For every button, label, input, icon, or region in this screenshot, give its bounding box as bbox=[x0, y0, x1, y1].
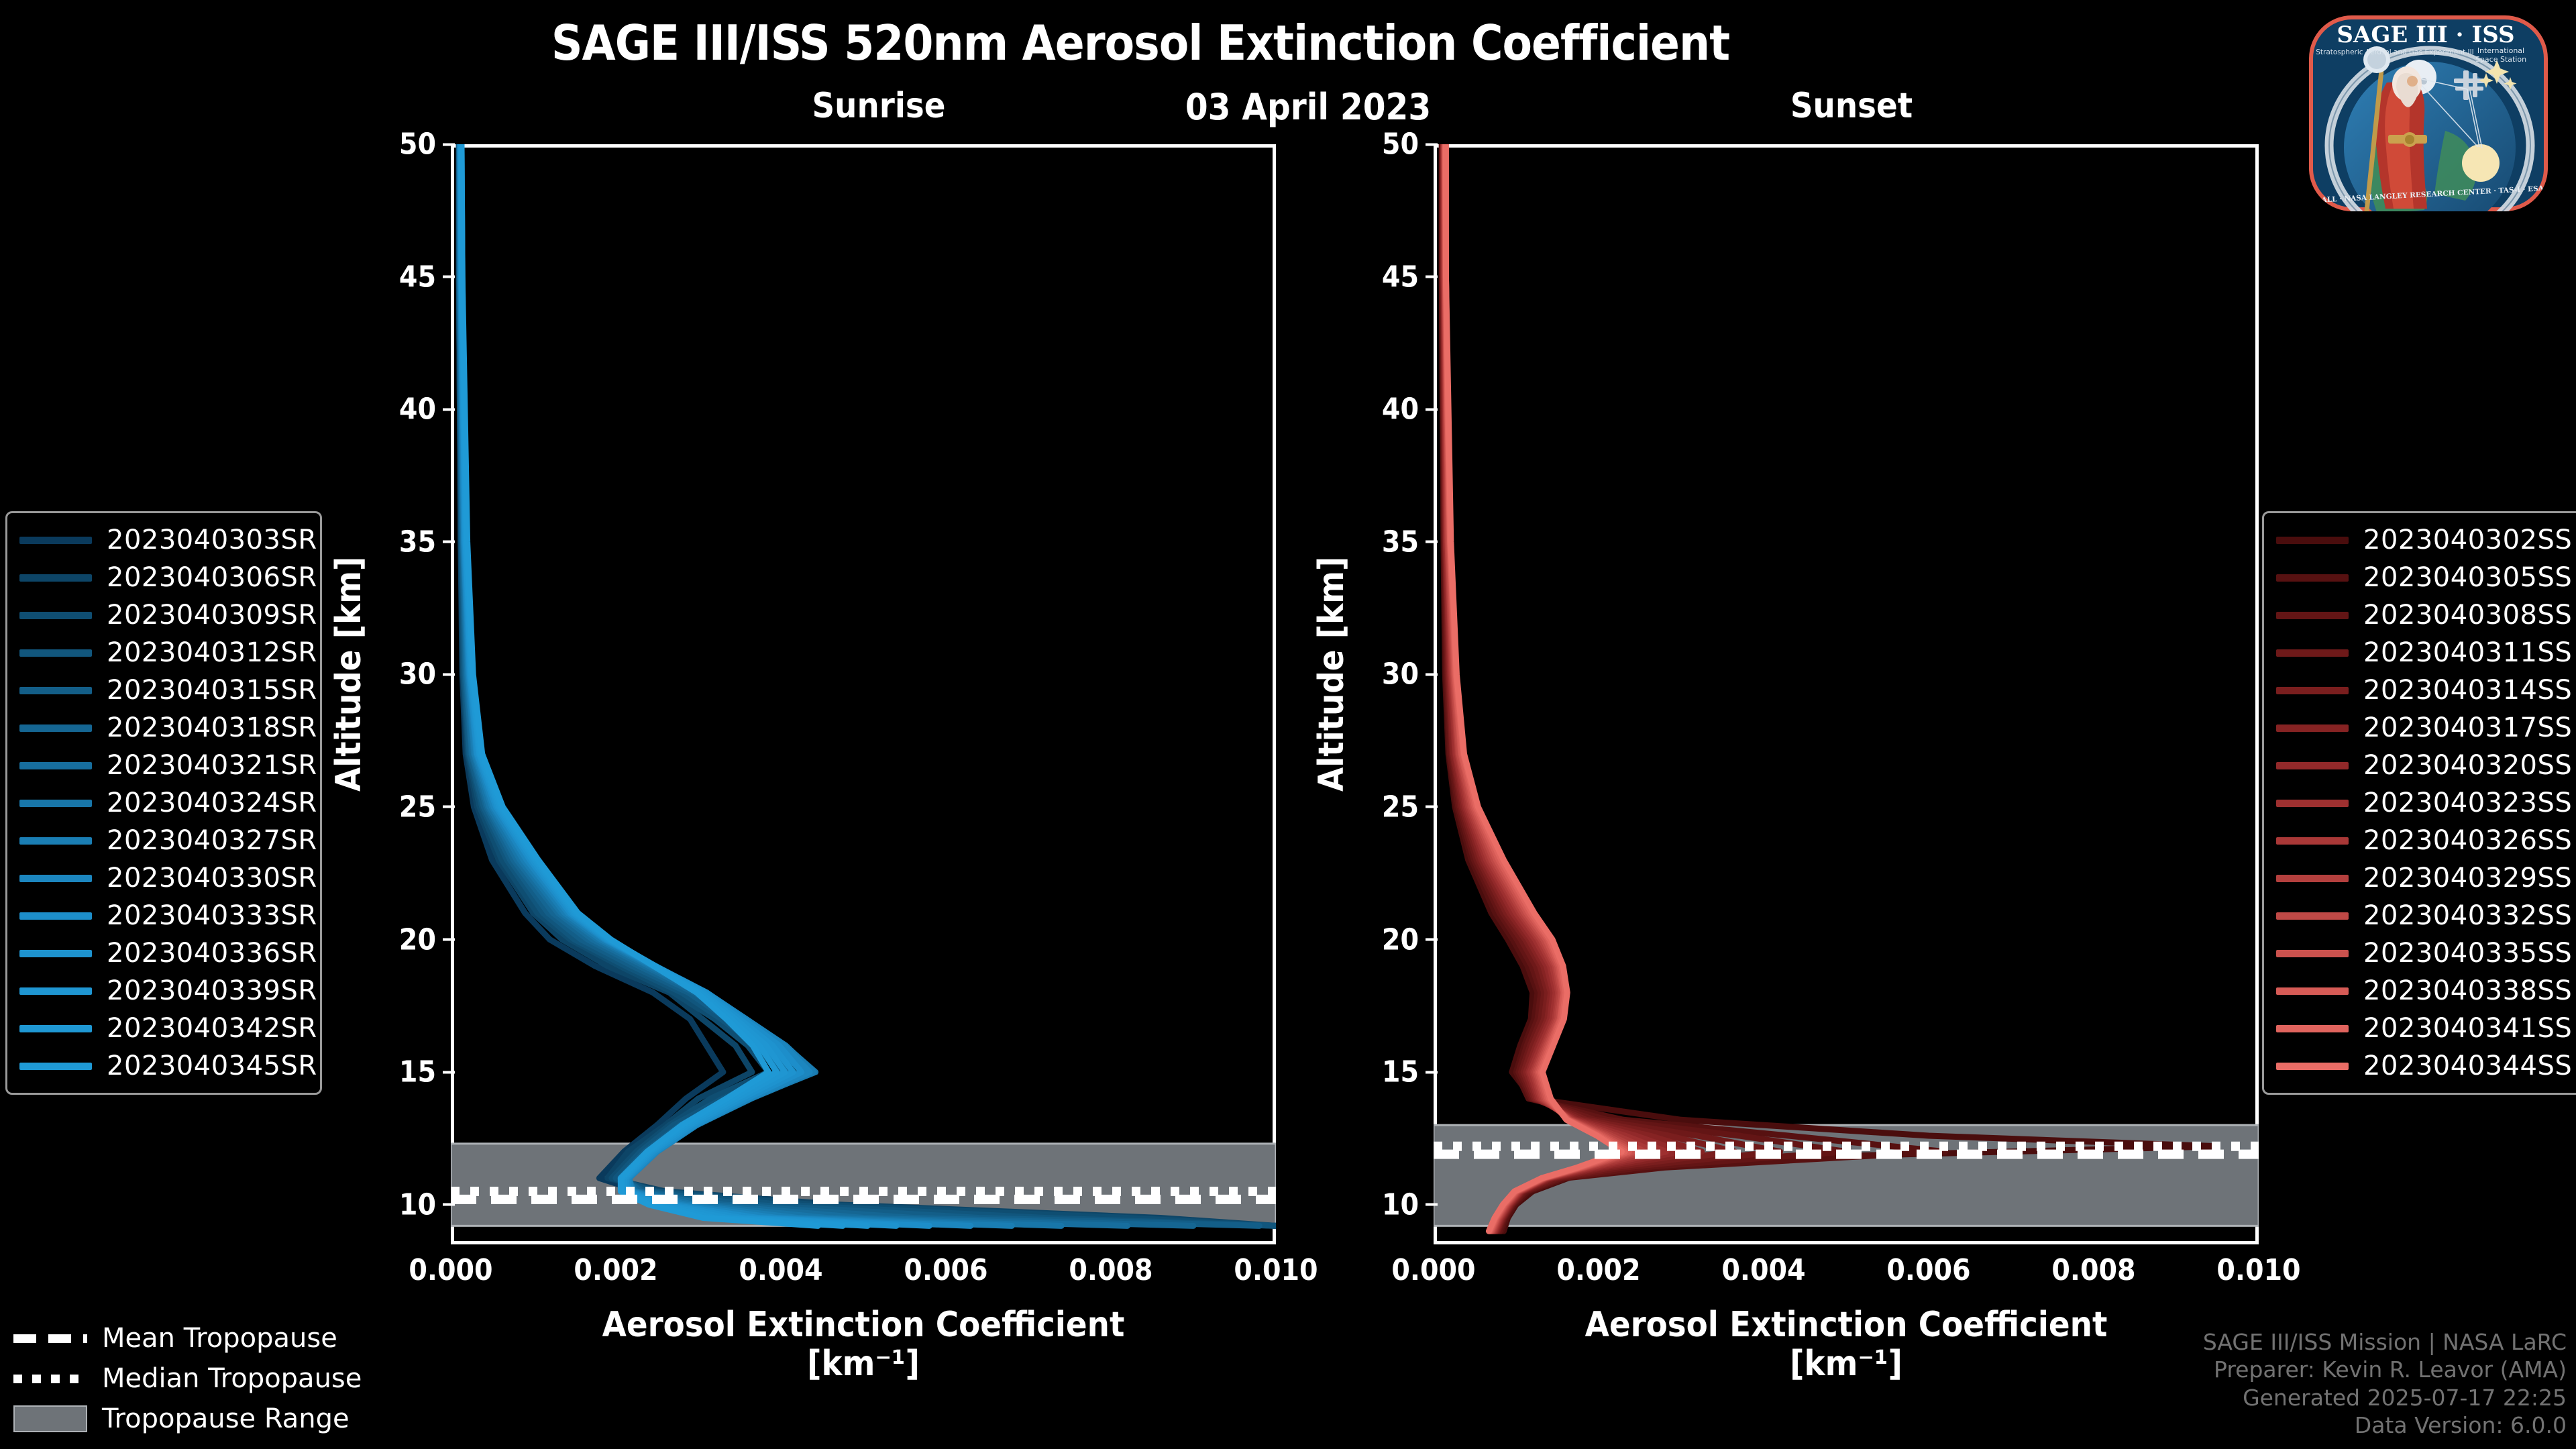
legend-item-2023040345SR[interactable]: 2023040345SR bbox=[19, 1047, 308, 1085]
y-tick-mark bbox=[443, 1203, 455, 1206]
profile-line-2023040302SS bbox=[1442, 144, 2217, 1231]
profile-line-2023040326SS bbox=[1444, 144, 1655, 1231]
legend-color-swatch bbox=[19, 1025, 92, 1032]
legend-item-2023040312SR[interactable]: 2023040312SR bbox=[19, 634, 308, 672]
legend-label-2023040342SR: 2023040342SR bbox=[107, 1013, 317, 1044]
sunset-panel-label: Sunset bbox=[1597, 86, 2106, 126]
legend-color-swatch bbox=[19, 987, 92, 995]
legend-item-2023040318SR[interactable]: 2023040318SR bbox=[19, 709, 308, 747]
legend-item-2023040324SR[interactable]: 2023040324SR bbox=[19, 784, 308, 822]
legend-label-2023040311SS: 2023040311SS bbox=[2363, 637, 2572, 668]
sunrise-legend[interactable]: 2023040303SR2023040306SR2023040309SR2023… bbox=[5, 511, 322, 1095]
x-tick-label-0.008: 0.008 bbox=[1069, 1253, 1152, 1287]
legend-item-2023040333SR[interactable]: 2023040333SR bbox=[19, 897, 308, 934]
sunrise-x-axis-ticks: 0.0000.0020.0040.0060.0080.010 bbox=[451, 1253, 1276, 1300]
legend-label-2023040321SR: 2023040321SR bbox=[107, 750, 317, 781]
legend-color-swatch bbox=[2276, 837, 2349, 845]
legend-color-swatch bbox=[2276, 1025, 2349, 1032]
legend-color-swatch bbox=[2276, 912, 2349, 920]
sunrise-plot-canvas bbox=[451, 144, 1276, 1244]
sunrise-x-axis-label: Aerosol Extinction Coefficient bbox=[602, 1305, 1125, 1345]
legend-label-mean-tropopause: Mean Tropopause bbox=[102, 1323, 337, 1354]
sunset-y-axis-title: Altitude [km] bbox=[1311, 557, 1352, 792]
y-tick-label-50: 50 bbox=[1382, 127, 1419, 162]
legend-item-2023040302SS[interactable]: 2023040302SS bbox=[2276, 521, 2576, 559]
legend-color-swatch bbox=[19, 687, 92, 694]
legend-color-swatch bbox=[19, 762, 92, 769]
y-tick-label-15: 15 bbox=[1382, 1055, 1419, 1089]
sunset-x-axis-title: Aerosol Extinction Coefficient [km⁻¹] bbox=[1434, 1305, 2259, 1383]
y-tick-mark bbox=[1426, 806, 1438, 808]
legend-label-2023040330SR: 2023040330SR bbox=[107, 863, 317, 894]
page-title: SAGE III/ISS 520nm Aerosol Extinction Co… bbox=[0, 15, 2281, 71]
x-tick-label-0.006: 0.006 bbox=[904, 1253, 987, 1287]
y-tick-label-20: 20 bbox=[399, 922, 436, 957]
legend-color-swatch bbox=[19, 912, 92, 920]
legend-item-2023040327SR[interactable]: 2023040327SR bbox=[19, 822, 308, 859]
y-tick-label-30: 30 bbox=[1382, 657, 1419, 692]
legend-color-swatch bbox=[19, 537, 92, 544]
profile-line-2023040306SR bbox=[459, 144, 1276, 1226]
footer-preparer: Preparer: Kevin R. Leavor (AMA) bbox=[2203, 1356, 2567, 1384]
y-tick-label-45: 45 bbox=[1382, 260, 1419, 294]
y-tick-mark bbox=[1426, 408, 1438, 411]
legend-color-swatch bbox=[2276, 574, 2349, 582]
profile-line-2023040333SR bbox=[461, 144, 930, 1226]
legend-item-2023040309SR[interactable]: 2023040309SR bbox=[19, 596, 308, 634]
profile-line-2023040308SS bbox=[1443, 144, 1846, 1231]
legend-item-2023040317SS[interactable]: 2023040317SS bbox=[2276, 709, 2576, 747]
x-tick-label-0.002: 0.002 bbox=[1556, 1253, 1640, 1287]
legend-item-tropopause-range: Tropopause Range bbox=[13, 1399, 362, 1439]
footer-credit: SAGE III/ISS Mission | NASA LaRC Prepare… bbox=[2203, 1328, 2567, 1440]
legend-color-swatch bbox=[19, 574, 92, 582]
x-tick-label-0.010: 0.010 bbox=[1234, 1253, 1318, 1287]
legend-item-2023040332SS[interactable]: 2023040332SS bbox=[2276, 897, 2576, 934]
legend-item-2023040336SR[interactable]: 2023040336SR bbox=[19, 934, 308, 972]
legend-label-2023040332SS: 2023040332SS bbox=[2363, 900, 2572, 931]
y-tick-label-15: 15 bbox=[399, 1055, 436, 1089]
legend-label-2023040305SS: 2023040305SS bbox=[2363, 562, 2572, 593]
sunrise-x-axis-units: [km⁻¹] bbox=[451, 1344, 1276, 1383]
y-tick-mark bbox=[1426, 1071, 1438, 1073]
profile-line-2023040320SS bbox=[1444, 144, 1681, 1231]
footer-generated: Generated 2025-07-17 22:25 bbox=[2203, 1384, 2567, 1412]
legend-label-2023040335SS: 2023040335SS bbox=[2363, 938, 2572, 969]
profile-line-2023040317SS bbox=[1444, 144, 1702, 1231]
legend-label-2023040320SS: 2023040320SS bbox=[2363, 750, 2572, 781]
y-tick-mark bbox=[443, 938, 455, 941]
x-tick-label-0.004: 0.004 bbox=[1721, 1253, 1805, 1287]
legend-item-2023040305SS[interactable]: 2023040305SS bbox=[2276, 559, 2576, 596]
y-tick-mark bbox=[1426, 143, 1438, 146]
legend-label-2023040324SR: 2023040324SR bbox=[107, 788, 317, 818]
legend-item-2023040341SS[interactable]: 2023040341SS bbox=[2276, 1010, 2576, 1047]
x-tick-label-0.000: 0.000 bbox=[1391, 1253, 1475, 1287]
subtitle-row: Sunrise 03 April 2023 Sunset bbox=[0, 86, 2576, 133]
y-tick-label-25: 25 bbox=[1382, 790, 1419, 824]
y-tick-mark bbox=[443, 806, 455, 808]
legend-color-swatch bbox=[19, 875, 92, 882]
legend-color-swatch bbox=[19, 950, 92, 957]
y-tick-label-35: 35 bbox=[1382, 525, 1419, 559]
legend-color-swatch bbox=[19, 800, 92, 807]
svg-text:Stratospheric Aerosol and Gas: Stratospheric Aerosol and Gas Experiment… bbox=[2316, 48, 2474, 56]
legend-item-2023040308SS[interactable]: 2023040308SS bbox=[2276, 596, 2576, 634]
footer-data-version: Data Version: 6.0.0 bbox=[2203, 1411, 2567, 1440]
sunset-plot-canvas bbox=[1434, 144, 2259, 1244]
x-tick-label-0.004: 0.004 bbox=[739, 1253, 822, 1287]
x-tick-label-0.000: 0.000 bbox=[409, 1253, 492, 1287]
y-tick-label-10: 10 bbox=[399, 1187, 436, 1222]
legend-label-2023040336SR: 2023040336SR bbox=[107, 938, 317, 969]
sunset-legend[interactable]: 2023040302SS2023040305SS2023040308SS2023… bbox=[2262, 511, 2576, 1095]
sunset-plot-panel bbox=[1434, 144, 2259, 1244]
legend-label-2023040309SR: 2023040309SR bbox=[107, 600, 317, 631]
y-tick-mark bbox=[443, 673, 455, 676]
legend-label-2023040341SS: 2023040341SS bbox=[2363, 1013, 2572, 1044]
legend-color-swatch bbox=[2276, 987, 2349, 995]
y-tick-mark bbox=[443, 541, 455, 543]
sunset-x-axis-label: Aerosol Extinction Coefficient bbox=[1585, 1305, 2108, 1345]
profile-line-2023040303SR bbox=[459, 144, 1276, 1226]
legend-item-2023040321SR[interactable]: 2023040321SR bbox=[19, 747, 308, 784]
footer-mission: SAGE III/ISS Mission | NASA LaRC bbox=[2203, 1328, 2567, 1356]
legend-label-2023040344SS: 2023040344SS bbox=[2363, 1051, 2572, 1081]
y-tick-label-40: 40 bbox=[1382, 392, 1419, 427]
x-tick-label-0.006: 0.006 bbox=[1886, 1253, 1970, 1287]
profile-line-2023040314SS bbox=[1443, 144, 1735, 1231]
y-tick-label-25: 25 bbox=[399, 790, 436, 824]
legend-item-2023040320SS[interactable]: 2023040320SS bbox=[2276, 747, 2576, 784]
legend-label-2023040303SR: 2023040303SR bbox=[107, 525, 317, 555]
y-tick-mark bbox=[1426, 673, 1438, 676]
y-tick-label-35: 35 bbox=[399, 525, 436, 559]
legend-color-swatch bbox=[19, 1063, 92, 1070]
legend-item-2023040338SS[interactable]: 2023040338SS bbox=[2276, 972, 2576, 1010]
svg-text:International: International bbox=[2477, 46, 2524, 55]
legend-item-2023040314SS[interactable]: 2023040314SS bbox=[2276, 672, 2576, 709]
y-tick-mark bbox=[1426, 1203, 1438, 1206]
profile-line-2023040312SR bbox=[459, 144, 1276, 1226]
legend-color-swatch bbox=[2276, 800, 2349, 807]
y-tick-mark bbox=[1426, 541, 1438, 543]
legend-item-2023040315SR[interactable]: 2023040315SR bbox=[19, 672, 308, 709]
legend-label-2023040314SS: 2023040314SS bbox=[2363, 675, 2572, 706]
legend-color-swatch bbox=[2276, 687, 2349, 694]
x-tick-label-0.008: 0.008 bbox=[2051, 1253, 2135, 1287]
dashed-line-icon bbox=[13, 1330, 87, 1347]
sunrise-plot-panel bbox=[451, 144, 1276, 1244]
profile-line-2023040318SR bbox=[460, 144, 1193, 1226]
legend-item-2023040344SS[interactable]: 2023040344SS bbox=[2276, 1047, 2576, 1085]
profile-line-2023040323SS bbox=[1444, 144, 1666, 1231]
legend-label-2023040315SR: 2023040315SR bbox=[107, 675, 317, 706]
legend-label-2023040323SS: 2023040323SS bbox=[2363, 788, 2572, 818]
sunrise-panel-label: Sunrise bbox=[711, 86, 1046, 126]
legend-label-2023040312SR: 2023040312SR bbox=[107, 637, 317, 668]
legend-item-2023040303SR[interactable]: 2023040303SR bbox=[19, 521, 308, 559]
legend-item-2023040326SS[interactable]: 2023040326SS bbox=[2276, 822, 2576, 859]
legend-color-swatch bbox=[2276, 612, 2349, 619]
legend-color-swatch bbox=[2276, 875, 2349, 882]
sunset-x-axis-units: [km⁻¹] bbox=[1434, 1344, 2259, 1383]
legend-label-2023040333SR: 2023040333SR bbox=[107, 900, 317, 931]
profile-line-2023040327SR bbox=[460, 144, 1012, 1226]
legend-label-2023040317SS: 2023040317SS bbox=[2363, 712, 2572, 743]
profile-line-2023040311SS bbox=[1443, 144, 1780, 1231]
legend-item-2023040335SS[interactable]: 2023040335SS bbox=[2276, 934, 2576, 972]
sunrise-x-axis-title: Aerosol Extinction Coefficient [km⁻¹] bbox=[451, 1305, 1276, 1383]
legend-color-swatch bbox=[2276, 762, 2349, 769]
x-tick-label-0.002: 0.002 bbox=[574, 1253, 657, 1287]
x-tick-label-0.010: 0.010 bbox=[2216, 1253, 2300, 1287]
y-tick-mark bbox=[443, 143, 455, 146]
profile-line-2023040345SR bbox=[462, 144, 818, 1226]
legend-color-swatch bbox=[19, 837, 92, 845]
y-tick-mark bbox=[1426, 938, 1438, 941]
logo-title: SAGE III · ISS bbox=[2337, 21, 2514, 48]
y-tick-label-10: 10 bbox=[1382, 1187, 1419, 1222]
legend-color-swatch bbox=[19, 612, 92, 619]
legend-item-2023040330SR[interactable]: 2023040330SR bbox=[19, 859, 308, 897]
y-tick-mark bbox=[443, 276, 455, 278]
legend-label-2023040329SS: 2023040329SS bbox=[2363, 863, 2572, 894]
legend-label-2023040318SR: 2023040318SR bbox=[107, 712, 317, 743]
legend-item-2023040306SR[interactable]: 2023040306SR bbox=[19, 559, 308, 596]
legend-label-2023040338SS: 2023040338SS bbox=[2363, 975, 2572, 1006]
legend-color-swatch bbox=[2276, 537, 2349, 544]
tropopause-legend: Mean Tropopause Median Tropopause Tropop… bbox=[13, 1318, 362, 1439]
y-tick-mark bbox=[443, 1071, 455, 1073]
legend-label-2023040339SR: 2023040339SR bbox=[107, 975, 317, 1006]
profile-line-2023040309SR bbox=[459, 144, 1276, 1226]
legend-color-swatch bbox=[19, 724, 92, 732]
profile-line-2023040336SR bbox=[461, 144, 896, 1226]
y-tick-label-20: 20 bbox=[1382, 922, 1419, 957]
legend-item-2023040329SS[interactable]: 2023040329SS bbox=[2276, 859, 2576, 897]
legend-label-tropopause-range: Tropopause Range bbox=[102, 1403, 350, 1434]
y-tick-mark bbox=[443, 408, 455, 411]
legend-color-swatch bbox=[2276, 1063, 2349, 1070]
legend-label-2023040327SR: 2023040327SR bbox=[107, 825, 317, 856]
legend-color-swatch bbox=[19, 649, 92, 657]
legend-item-median-tropopause: Median Tropopause bbox=[13, 1358, 362, 1399]
legend-label-2023040308SS: 2023040308SS bbox=[2363, 600, 2572, 631]
y-tick-label-45: 45 bbox=[399, 260, 436, 294]
legend-label-2023040326SS: 2023040326SS bbox=[2363, 825, 2572, 856]
legend-label-median-tropopause: Median Tropopause bbox=[102, 1363, 362, 1394]
legend-item-2023040342SR[interactable]: 2023040342SR bbox=[19, 1010, 308, 1047]
legend-color-swatch bbox=[2276, 649, 2349, 657]
sunrise-y-axis-title: Altitude [km] bbox=[329, 557, 369, 792]
y-tick-label-30: 30 bbox=[399, 657, 436, 692]
legend-item-2023040311SS[interactable]: 2023040311SS bbox=[2276, 634, 2576, 672]
y-tick-mark bbox=[1426, 276, 1438, 278]
legend-color-swatch bbox=[2276, 950, 2349, 957]
profile-line-2023040315SR bbox=[459, 144, 1259, 1226]
legend-item-2023040339SR[interactable]: 2023040339SR bbox=[19, 972, 308, 1010]
observation-date-label: 03 April 2023 bbox=[1006, 86, 1610, 128]
shaded-band-icon bbox=[13, 1410, 87, 1428]
sunset-x-axis-ticks: 0.0000.0020.0040.0060.0080.010 bbox=[1434, 1253, 2259, 1300]
y-tick-label-40: 40 bbox=[399, 392, 436, 427]
y-tick-label-50: 50 bbox=[399, 127, 436, 162]
sage-iii-iss-mission-patch-logo: BALL · NASA LANGLEY RESEARCH CENTER · TA… bbox=[2288, 3, 2569, 211]
svg-text:Space Station: Space Station bbox=[2475, 55, 2526, 64]
dotted-line-icon bbox=[13, 1370, 87, 1387]
legend-item-2023040323SS[interactable]: 2023040323SS bbox=[2276, 784, 2576, 822]
legend-color-swatch bbox=[2276, 724, 2349, 732]
legend-item-mean-tropopause: Mean Tropopause bbox=[13, 1318, 362, 1358]
legend-label-2023040306SR: 2023040306SR bbox=[107, 562, 317, 593]
legend-label-2023040345SR: 2023040345SR bbox=[107, 1051, 317, 1081]
legend-label-2023040302SS: 2023040302SS bbox=[2363, 525, 2572, 555]
